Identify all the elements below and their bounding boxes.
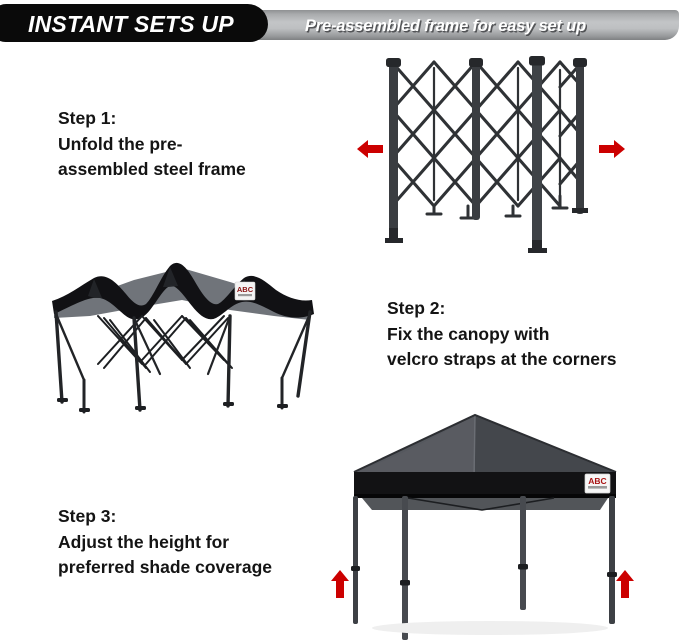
valance-hem [354,494,616,498]
step-2-text: Step 2: Fix the canopy with velcro strap… [387,296,677,373]
roof-ridge [474,415,475,478]
header-banner: Pre-assembled frame for easy set up INST… [0,4,679,44]
step-1-text: Step 1: Unfold the pre- assembled steel … [58,106,303,183]
canopy-full-logo-text: ABC [588,476,606,486]
valance-band [354,472,616,496]
canopy-interior-shadow [362,498,608,510]
step-3-text: Step 3: Adjust the height for preferred … [58,504,348,581]
canopy-full-legs [351,496,617,640]
header-tagline: Pre-assembled frame for easy set up [305,13,675,39]
truss-bars [392,62,582,206]
canopy-logo-text: ABC [237,285,254,294]
canopy-feet [57,398,288,412]
header-badge-label: INSTANT SETS UP [28,8,268,40]
canopy-logo-badge: ABC [235,282,255,300]
canopy-fully-setup-illustration: ABC [332,406,650,640]
canopy-partially-open-illustration: ABC [42,256,322,416]
ground-shadow [372,621,608,635]
instruction-infographic: Pre-assembled frame for easy set up INST… [0,0,679,644]
inner-foot-stubs [427,196,567,218]
canopy-full-logo-badge: ABC [585,474,610,493]
arrow-right-icon [599,138,625,165]
steel-frame-illustration [376,50,592,255]
